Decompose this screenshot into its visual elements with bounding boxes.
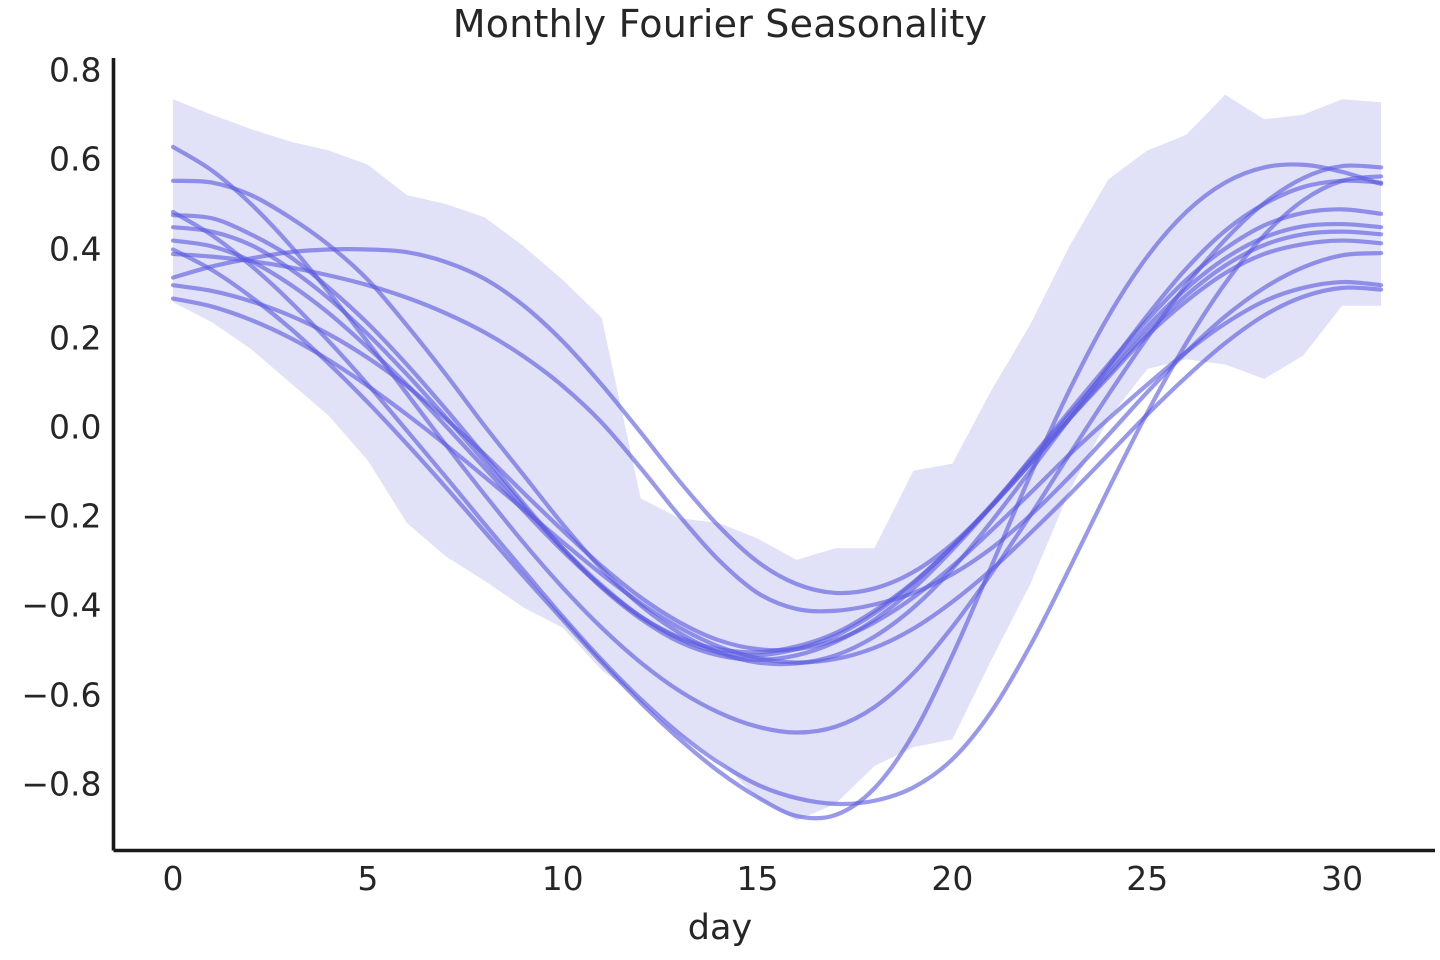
y-tick-label: 0.6 [0,140,102,179]
confidence-band [173,95,1381,821]
x-tick-label: 0 [163,859,184,898]
x-tick-label: 25 [1126,859,1168,898]
y-tick-label: 0.2 [0,318,102,357]
x-tick-label: 10 [542,859,584,898]
x-tick-label: 20 [931,859,973,898]
y-tick-label: 0.4 [0,229,102,268]
y-tick-label: −0.4 [0,586,102,625]
y-tick-label: 0.0 [0,408,102,447]
x-tick-label: 5 [357,859,378,898]
y-tick-label: −0.2 [0,497,102,536]
y-tick-label: −0.6 [0,675,102,714]
y-tick-label: 0.8 [0,51,102,90]
x-tick-label: 15 [737,859,779,898]
figure-canvas: Monthly Fourier Seasonality 0.80.60.40.2… [0,0,1440,960]
x-axis-label: day [0,908,1440,948]
band-area [173,95,1381,821]
line-chart-plot [0,0,1440,960]
x-tick-label: 30 [1321,859,1363,898]
y-tick-label: −0.8 [0,764,102,803]
